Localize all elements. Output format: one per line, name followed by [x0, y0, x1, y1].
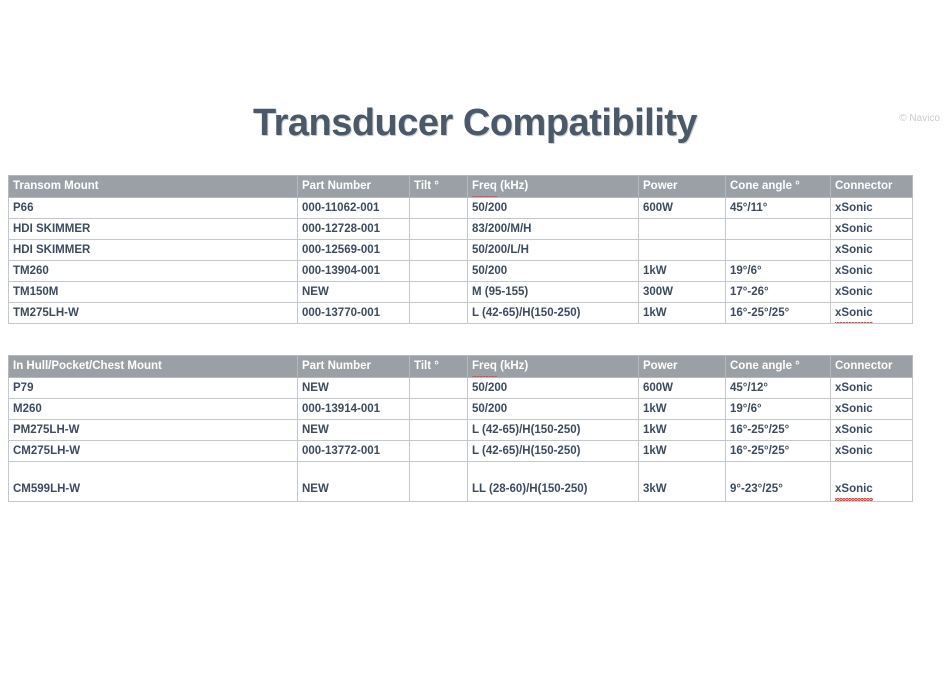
cell-part-number[interactable]: 000-13904-001 — [298, 261, 410, 282]
cell-freq[interactable]: 83/200/M/H — [468, 219, 639, 240]
cell-connector[interactable]: xSonic — [831, 441, 913, 462]
cell-part-number[interactable]: 000-12569-001 — [298, 240, 410, 261]
cell-freq[interactable]: M (95-155) — [468, 282, 639, 303]
cell-model[interactable]: HDI SKIMMER — [9, 240, 298, 261]
cell-model[interactable]: TM260 — [9, 261, 298, 282]
cell-connector[interactable]: xSonic — [831, 420, 913, 441]
copyright-notice: © Navico — [899, 113, 940, 124]
cell-tilt[interactable] — [410, 198, 468, 219]
table-row[interactable]: CM275LH-W000-13772-001L (42-65)/H(150-25… — [9, 441, 913, 462]
cell-tilt[interactable] — [410, 399, 468, 420]
cell-cone-angle[interactable]: 9°-23°/25° — [726, 462, 831, 502]
column-header-tilt[interactable]: Tilt ° — [410, 176, 468, 198]
cell-connector[interactable]: xSonic — [831, 462, 913, 502]
cell-freq[interactable]: 50/200 — [468, 399, 639, 420]
cell-power[interactable]: 1kW — [639, 303, 726, 324]
cell-model[interactable]: P79 — [9, 378, 298, 399]
column-header-cone-angle[interactable]: Cone angle ° — [726, 176, 831, 198]
cell-tilt[interactable] — [410, 462, 468, 502]
cell-connector[interactable]: xSonic — [831, 240, 913, 261]
cell-tilt[interactable] — [410, 420, 468, 441]
cell-power[interactable]: 1kW — [639, 261, 726, 282]
cell-part-number[interactable]: 000-11062-001 — [298, 198, 410, 219]
cell-power[interactable]: 600W — [639, 198, 726, 219]
cell-power[interactable]: 600W — [639, 378, 726, 399]
page-title: Transducer Compatibility — [0, 102, 950, 145]
column-header-power[interactable]: Power — [639, 356, 726, 378]
table-header-row: Transom MountPart NumberTilt °Freq (kHz)… — [9, 176, 913, 198]
column-header-part-number[interactable]: Part Number — [298, 356, 410, 378]
cell-model[interactable]: P66 — [9, 198, 298, 219]
cell-power[interactable] — [639, 219, 726, 240]
cell-connector[interactable]: xSonic — [831, 198, 913, 219]
cell-cone-angle[interactable]: 16°-25°/25° — [726, 303, 831, 324]
cell-power[interactable] — [639, 240, 726, 261]
cell-model[interactable]: M260 — [9, 399, 298, 420]
column-header-suffix: (kHz) — [497, 360, 528, 372]
cell-cone-angle[interactable]: 45°/12° — [726, 378, 831, 399]
cell-cone-angle[interactable]: 17°-26° — [726, 282, 831, 303]
table-row[interactable]: M260000-13914-00150/2001kW19°/6°xSonic — [9, 399, 913, 420]
slide-canvas: Transducer Compatibility © Navico Transo… — [0, 0, 950, 700]
column-header-model[interactable]: In Hull/Pocket/Chest Mount — [9, 356, 298, 378]
cell-freq[interactable]: 50/200 — [468, 198, 639, 219]
cell-part-number[interactable]: 000-13914-001 — [298, 399, 410, 420]
spellcheck-underline: xSonic — [835, 303, 873, 323]
cell-connector[interactable]: xSonic — [831, 282, 913, 303]
cell-part-number[interactable]: NEW — [298, 420, 410, 441]
cell-connector[interactable]: xSonic — [831, 303, 913, 324]
cell-connector[interactable]: xSonic — [831, 378, 913, 399]
cell-tilt[interactable] — [410, 240, 468, 261]
cell-freq[interactable]: L (42-65)/H(150-250) — [468, 441, 639, 462]
cell-part-number[interactable]: NEW — [298, 462, 410, 502]
table-row[interactable]: P66000-11062-00150/200600W45°/11°xSonic — [9, 198, 913, 219]
table-row[interactable]: TM260000-13904-00150/2001kW19°/6°xSonic — [9, 261, 913, 282]
spellcheck-underline: Freq — [472, 356, 497, 377]
cell-tilt[interactable] — [410, 261, 468, 282]
cell-cone-angle[interactable]: 19°/6° — [726, 399, 831, 420]
cell-cone-angle[interactable]: 16°-25°/25° — [726, 441, 831, 462]
table-row[interactable]: HDI SKIMMER000-12569-00150/200/L/HxSonic — [9, 240, 913, 261]
cell-part-number[interactable]: 000-12728-001 — [298, 219, 410, 240]
transducer-table-in-hull-pocket-chest-mount: In Hull/Pocket/Chest MountPart NumberTil… — [8, 355, 913, 502]
cell-power[interactable]: 3kW — [639, 462, 726, 502]
cell-model[interactable]: TM275LH-W — [9, 303, 298, 324]
cell-freq[interactable]: 50/200/L/H — [468, 240, 639, 261]
table-row[interactable]: TM150MNEWM (95-155)300W17°-26°xSonic — [9, 282, 913, 303]
cell-cone-angle[interactable] — [726, 219, 831, 240]
table-row[interactable]: TM275LH-W000-13770-001L (42-65)/H(150-25… — [9, 303, 913, 324]
cell-part-number[interactable]: 000-13770-001 — [298, 303, 410, 324]
column-header-power[interactable]: Power — [639, 176, 726, 198]
cell-part-number[interactable]: 000-13772-001 — [298, 441, 410, 462]
cell-tilt[interactable] — [410, 378, 468, 399]
transducer-table-transom-mount: Transom MountPart NumberTilt °Freq (kHz)… — [8, 175, 913, 324]
cell-model[interactable]: PM275LH-W — [9, 420, 298, 441]
cell-cone-angle[interactable]: 19°/6° — [726, 261, 831, 282]
cell-tilt[interactable] — [410, 303, 468, 324]
table-row[interactable]: PM275LH-WNEWL (42-65)/H(150-250)1kW16°-2… — [9, 420, 913, 441]
cell-power[interactable]: 1kW — [639, 441, 726, 462]
cell-tilt[interactable] — [410, 441, 468, 462]
cell-cone-angle[interactable]: 16°-25°/25° — [726, 420, 831, 441]
cell-freq[interactable]: LL (28-60)/H(150-250) — [468, 462, 639, 502]
cell-model[interactable]: CM599LH-W — [9, 462, 298, 502]
column-header-connector[interactable]: Connector — [831, 176, 913, 198]
column-header-cone-angle[interactable]: Cone angle ° — [726, 356, 831, 378]
column-header-freq[interactable]: Freq (kHz) — [468, 176, 639, 198]
cell-power[interactable]: 300W — [639, 282, 726, 303]
spellcheck-underline: Freq — [472, 176, 497, 197]
cell-model[interactable]: HDI SKIMMER — [9, 219, 298, 240]
spellcheck-underline: xSonic — [835, 479, 873, 499]
table-row[interactable]: P79NEW50/200600W45°/12°xSonic — [9, 378, 913, 399]
cell-tilt[interactable] — [410, 219, 468, 240]
column-header-suffix: (kHz) — [497, 180, 528, 192]
cell-power[interactable]: 1kW — [639, 420, 726, 441]
cell-part-number[interactable]: NEW — [298, 282, 410, 303]
cell-freq[interactable]: 50/200 — [468, 261, 639, 282]
column-header-model[interactable]: Transom Mount — [9, 176, 298, 198]
cell-freq[interactable]: 50/200 — [468, 378, 639, 399]
cell-freq[interactable]: L (42-65)/H(150-250) — [468, 303, 639, 324]
cell-part-number[interactable]: NEW — [298, 378, 410, 399]
column-header-freq[interactable]: Freq (kHz) — [468, 356, 639, 378]
cell-model[interactable]: TM150M — [9, 282, 298, 303]
column-header-part-number[interactable]: Part Number — [298, 176, 410, 198]
cell-cone-angle[interactable] — [726, 240, 831, 261]
cell-freq[interactable]: L (42-65)/H(150-250) — [468, 420, 639, 441]
table-header-row: In Hull/Pocket/Chest MountPart NumberTil… — [9, 356, 913, 378]
cell-tilt[interactable] — [410, 282, 468, 303]
cell-connector[interactable]: xSonic — [831, 219, 913, 240]
table-row[interactable]: HDI SKIMMER000-12728-00183/200/M/HxSonic — [9, 219, 913, 240]
cell-power[interactable]: 1kW — [639, 399, 726, 420]
column-header-tilt[interactable]: Tilt ° — [410, 356, 468, 378]
cell-cone-angle[interactable]: 45°/11° — [726, 198, 831, 219]
column-header-connector[interactable]: Connector — [831, 356, 913, 378]
cell-connector[interactable]: xSonic — [831, 399, 913, 420]
cell-connector[interactable]: xSonic — [831, 261, 913, 282]
cell-model[interactable]: CM275LH-W — [9, 441, 298, 462]
table-row[interactable]: CM599LH-WNEWLL (28-60)/H(150-250)3kW9°-2… — [9, 462, 913, 502]
